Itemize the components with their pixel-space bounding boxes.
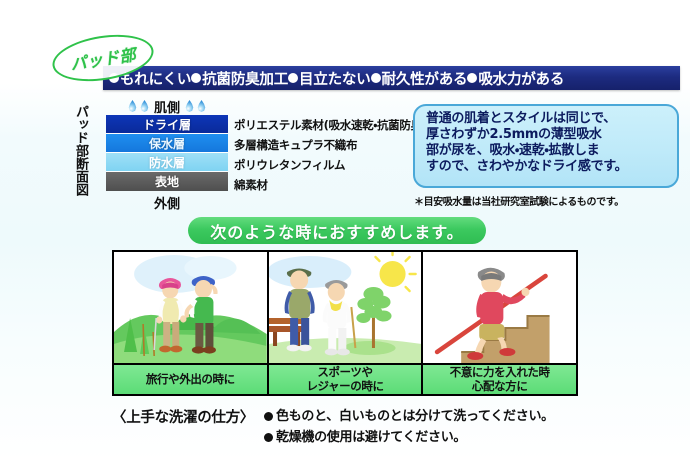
- scene-panels: 旅行や外出の時に: [112, 250, 578, 396]
- sports-leisure-illustration: [269, 252, 422, 363]
- feature-item: 目立たない: [288, 68, 371, 89]
- cross-section-diagram: パッド部断面図 肌側 ドライ層 保水層 防水層 表地 外側 ポリエステル素材(吸…: [70, 97, 420, 219]
- panel-caption-line: 心配な方に: [472, 379, 528, 393]
- washing-line-text: 色ものと、白いものとは分けて洗ってください。: [276, 405, 554, 424]
- panel-caption: スポーツや レジャーの時に: [269, 363, 422, 394]
- panel-caption-line: 不意に力を入れた時: [450, 365, 550, 379]
- filled-circle-bullet-icon: [264, 433, 273, 442]
- panel-caption-line: レジャーの時に: [306, 379, 383, 393]
- filled-circle-bullet-icon: [467, 73, 477, 83]
- layer-stack: ドライ層 保水層 防水層 表地: [106, 115, 228, 191]
- feature-item: 吸水力がある: [467, 68, 564, 89]
- panel-caption-wrap: 不意に力を入れた時 心配な方に: [450, 366, 550, 392]
- material-text: ポリウレタンフィルム: [234, 155, 420, 175]
- material-text: 多層構造キュプラ不織布: [234, 135, 420, 155]
- washing-instructions: 〈上手な洗濯の仕方〉 色ものと、白いものとは分けて洗ってください。 乾燥機の使用…: [112, 405, 680, 445]
- scene-panel: スポーツや レジャーの時に: [269, 252, 424, 394]
- layer-block: 表地: [106, 172, 228, 191]
- panel-caption-line: スポーツや: [317, 365, 372, 379]
- layer-block: ドライ層: [106, 115, 228, 134]
- feature-item: 抗菌防臭加工: [191, 68, 288, 89]
- washing-line: 色ものと、白いものとは分けて洗ってください。: [264, 405, 554, 424]
- filled-circle-bullet-icon: [371, 73, 381, 83]
- layer-block: 防水層: [106, 153, 228, 172]
- water-droplet-icon: [140, 100, 149, 112]
- feature-label: 目立たない: [299, 68, 371, 89]
- material-list: ポリエステル素材(吸水速乾・抗菌防臭) 多層構造キュプラ不織布 ポリウレタンフィ…: [234, 115, 420, 195]
- water-droplet-icon: [185, 100, 194, 112]
- panel-caption: 旅行や外出の時に: [114, 363, 267, 394]
- scene-panel: 不意に力を入れた時 心配な方に: [423, 252, 576, 394]
- filled-circle-bullet-icon: [191, 73, 201, 83]
- panel-caption-wrap: スポーツや レジャーの時に: [306, 366, 383, 392]
- feature-label: 抗菌防臭加工: [202, 68, 288, 89]
- panel-caption: 不意に力を入れた時 心配な方に: [423, 363, 576, 394]
- washing-title: 〈上手な洗濯の仕方〉: [112, 405, 254, 427]
- filled-circle-bullet-icon: [264, 412, 273, 421]
- recommend-pill: 次のような時におすすめします。: [188, 217, 486, 244]
- water-droplet-icon: [197, 100, 206, 112]
- stairs-scene-svg: [423, 252, 576, 363]
- washing-line-text: 乾燥機の使用は避けてください。: [276, 426, 466, 445]
- sports-scene-svg: [269, 252, 422, 363]
- hikers-illustration: [114, 252, 267, 363]
- feature-banner: もれにくい抗菌防臭加工目立たない耐久性がある吸水力がある: [103, 66, 680, 90]
- callout-line: すので、さわやかなドライ感です。: [426, 159, 668, 175]
- skin-side-row: 肌側: [106, 97, 228, 115]
- washing-line: 乾燥機の使用は避けてください。: [264, 426, 554, 445]
- cross-section-vertical-title: パッド部断面図: [70, 105, 87, 196]
- scene-panel: 旅行や外出の時に: [114, 252, 269, 394]
- outer-side-label: 外側: [106, 193, 228, 212]
- description-callout: 普通の肌着とスタイルは同じで、 厚さわずか2.5mmの薄型吸水 部が尿を、吸水・…: [413, 104, 679, 188]
- product-info-graphic: パッド部 もれにくい抗菌防臭加工目立たない耐久性がある吸水力がある パッド部断面…: [0, 0, 690, 461]
- feature-item: 耐久性がある: [371, 68, 468, 89]
- skin-side-label: 肌側: [154, 97, 180, 116]
- callout-line: 厚さわずか2.5mmの薄型吸水: [426, 127, 668, 143]
- footnote-text: ＊目安吸水量は当社研究室試験によるものです。: [414, 193, 624, 208]
- feature-label: 耐久性がある: [382, 68, 468, 89]
- material-text: 綿素材: [234, 175, 420, 195]
- filled-circle-bullet-icon: [288, 73, 298, 83]
- material-text: ポリエステル素材(吸水速乾・抗菌防臭): [234, 115, 420, 135]
- feature-label: 吸水力がある: [478, 68, 564, 89]
- stairs-illustration: [423, 252, 576, 363]
- hikers-scene-svg: [114, 252, 267, 363]
- panel-caption-line: 旅行や外出の時に: [146, 373, 235, 386]
- callout-line: 普通の肌着とスタイルは同じで、: [426, 111, 668, 127]
- layer-block: 保水層: [106, 134, 228, 153]
- water-droplet-icon: [128, 100, 137, 112]
- callout-line: 部が尿を、吸水・速乾・拡散しま: [426, 143, 668, 159]
- washing-lines: 色ものと、白いものとは分けて洗ってください。 乾燥機の使用は避けてください。: [264, 405, 554, 445]
